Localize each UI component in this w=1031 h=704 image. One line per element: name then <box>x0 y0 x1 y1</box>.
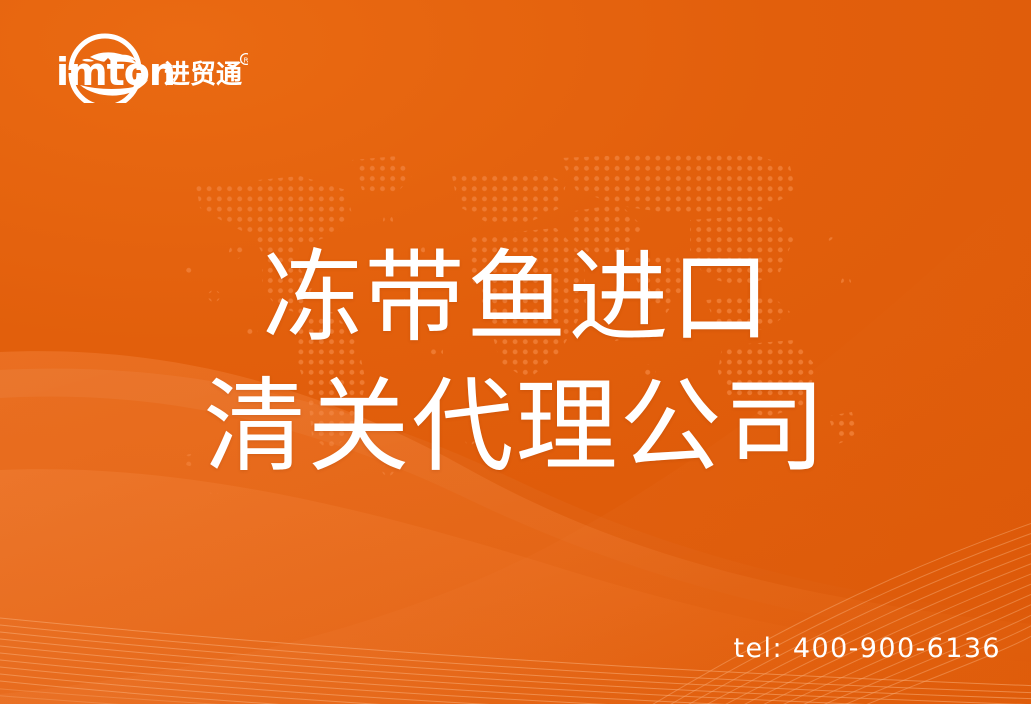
headline-line-1: 冻带鱼进口 <box>0 234 1031 362</box>
headline-line-2: 清关代理公司 <box>0 362 1031 493</box>
brand-logo[interactable]: imton 进贸通 R <box>38 33 248 103</box>
headline: 冻带鱼进口 清关代理公司 <box>0 234 1031 493</box>
contact-phone[interactable]: tel: 400-900-6136 <box>734 633 1001 664</box>
svg-text:imton: imton <box>56 50 175 94</box>
logo-chinese-name: 进贸通 <box>164 60 242 90</box>
svg-text:R: R <box>244 57 248 65</box>
svg-text:进贸通: 进贸通 <box>164 60 242 90</box>
promo-banner: imton 进贸通 R 冻带鱼进口 清关代理公司 tel: 400-900-61… <box>0 0 1031 704</box>
logo-wordmark: imton <box>56 50 175 94</box>
